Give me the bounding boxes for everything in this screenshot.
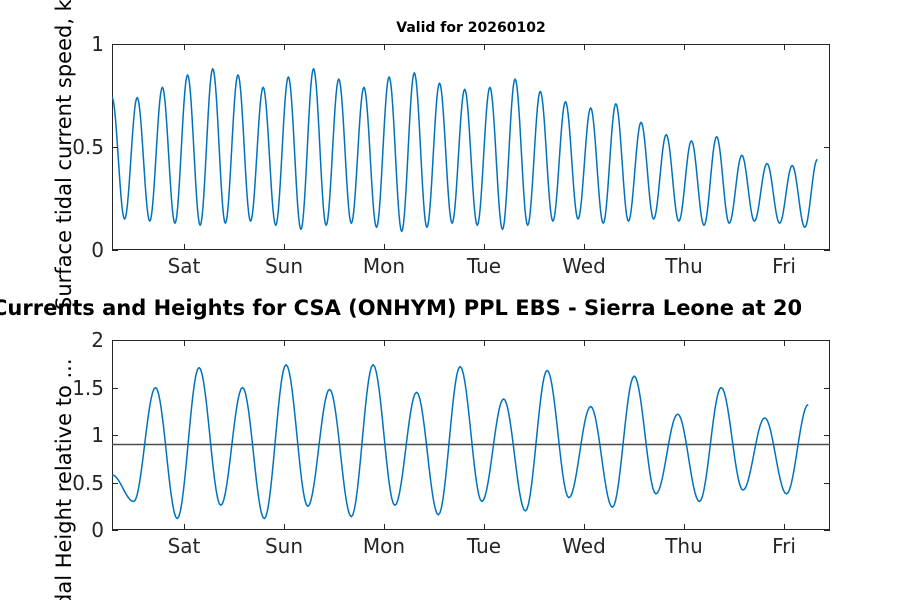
x-axis-tick [384,340,385,346]
tidal-height-chart: SatSunMonTueWedThuFri00.511.52 [112,340,830,530]
data-line [112,365,808,519]
x-axis-tick [384,524,385,530]
y-axis-tick [824,435,830,436]
x-axis-tick-label: Sun [265,534,303,558]
tidal-height-plot-area [112,340,830,530]
x-axis-tick [584,44,585,50]
y-axis-tick-label: 1.5 [72,376,104,400]
y-axis-tick [824,388,830,389]
x-axis-tick [284,244,285,250]
x-axis-tick [684,340,685,346]
x-axis-tick-label: Mon [363,254,405,278]
y-axis-tick-label: 1 [91,423,104,447]
x-axis-tick [584,244,585,250]
x-axis-tick [184,340,185,346]
x-axis-tick [784,524,785,530]
y-axis-tick [824,483,830,484]
x-axis-tick [284,524,285,530]
y-axis-tick [824,147,830,148]
x-axis-tick [784,244,785,250]
current-speed-plot-area [112,44,830,250]
x-axis-tick-label: Tue [467,254,501,278]
y-axis-tick [112,250,118,251]
y-axis-tick-label: 1 [91,32,104,56]
x-axis-tick-label: Thu [665,254,703,278]
x-axis-tick [484,44,485,50]
current-speed-chart: Valid for 20260102 SatSunMonTueWedThuFri… [112,44,830,250]
x-axis-tick [384,244,385,250]
x-axis-tick [484,524,485,530]
x-axis-tick [284,44,285,50]
x-axis-tick-label: Fri [772,254,796,278]
x-axis-tick-label: Mon [363,534,405,558]
x-axis-tick [684,44,685,50]
y-axis-tick-label: 0 [91,518,104,542]
x-axis-tick-label: Sun [265,254,303,278]
current-speed-chart-title: Valid for 20260102 [112,20,830,36]
y-axis-tick-label: 0.5 [72,471,104,495]
y-axis-tick [824,530,830,531]
x-axis-tick-label: Sat [168,254,201,278]
y-axis-tick-label: 2 [91,328,104,352]
x-axis-tick [684,244,685,250]
x-axis-tick-label: Thu [665,534,703,558]
x-axis-tick [284,340,285,346]
current-speed-y-axis-label: Surface tidal current speed, kn [52,0,76,310]
x-axis-tick [184,244,185,250]
data-line [112,69,817,232]
y-axis-tick [112,340,118,341]
y-axis-tick [824,250,830,251]
x-axis-tick [384,44,385,50]
x-axis-tick [584,524,585,530]
y-axis-tick [824,340,830,341]
x-axis-tick [484,244,485,250]
tidal-forecast-figure: Valid for 20260102 SatSunMonTueWedThuFri… [0,0,900,600]
y-axis-tick [112,483,118,484]
y-axis-tick-label: 0 [91,238,104,262]
x-axis-tick-label: Sat [168,534,201,558]
y-axis-tick [112,44,118,45]
y-axis-tick [112,530,118,531]
x-axis-tick-label: Wed [562,254,606,278]
page-title: Currents and Heights for CSA (ONHYM) PPL… [0,296,900,320]
x-axis-tick [484,340,485,346]
y-axis-tick [112,388,118,389]
y-axis-tick-label: 0.5 [72,135,104,159]
x-axis-tick [184,44,185,50]
y-axis-tick [824,44,830,45]
x-axis-tick [584,340,585,346]
tidal-height-y-axis-label: Tidal Height relative to ... [52,359,76,600]
x-axis-tick [784,340,785,346]
x-axis-tick [184,524,185,530]
x-axis-tick [784,44,785,50]
x-axis-tick [684,524,685,530]
x-axis-tick-label: Wed [562,534,606,558]
y-axis-tick [112,147,118,148]
x-axis-tick-label: Tue [467,534,501,558]
y-axis-tick [112,435,118,436]
x-axis-tick-label: Fri [772,534,796,558]
